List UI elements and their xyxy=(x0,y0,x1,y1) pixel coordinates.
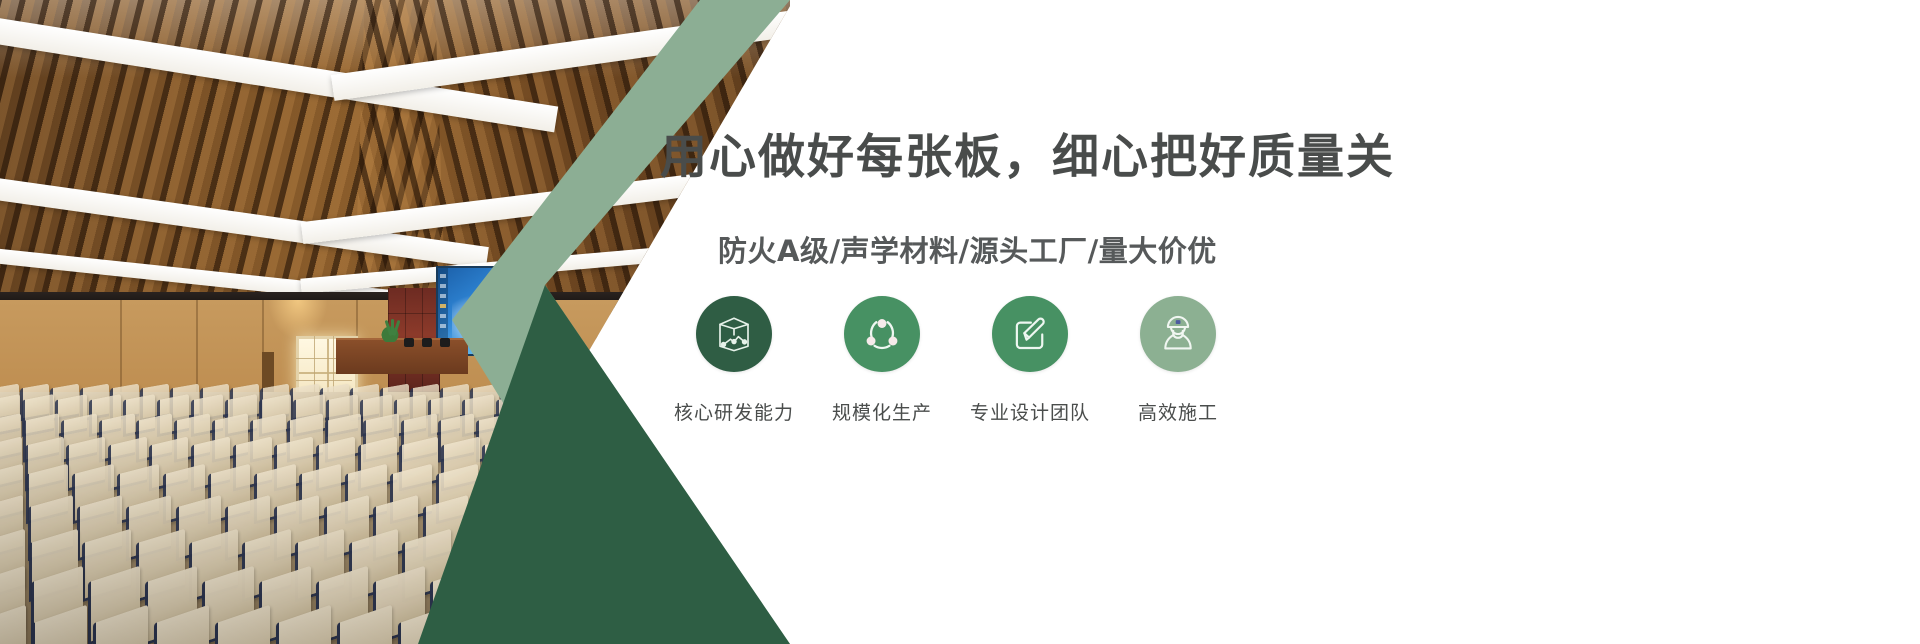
feature-item-design-team[interactable]: 专业设计团队 xyxy=(956,296,1104,425)
feature-label: 高效施工 xyxy=(1138,398,1218,425)
feature-item-scale-production[interactable]: 规模化生产 xyxy=(808,296,956,425)
feature-list: 核心研发能力 规模化生产 xyxy=(660,296,1252,425)
feature-icon-circle xyxy=(696,296,772,372)
feature-icon-circle xyxy=(992,296,1068,372)
network-share-icon xyxy=(861,313,903,355)
banner-content: 用心做好每张板，细心把好质量关 防火A级/声学材料/源头工厂/量大价优 xyxy=(660,0,1920,644)
box-chart-icon xyxy=(713,313,755,355)
hero-banner: 用心做好每张板，细心把好质量关 防火A级/声学材料/源头工厂/量大价优 xyxy=(0,0,1920,644)
feature-item-core-rd[interactable]: 核心研发能力 xyxy=(660,296,808,425)
pencil-edit-icon xyxy=(1009,313,1051,355)
feature-icon-circle xyxy=(844,296,920,372)
feature-label: 核心研发能力 xyxy=(674,398,794,425)
feature-label: 规模化生产 xyxy=(832,398,932,425)
feature-label: 专业设计团队 xyxy=(970,398,1090,425)
feature-item-efficient-construction[interactable]: 高效施工 xyxy=(1104,296,1252,425)
feature-icon-circle xyxy=(1140,296,1216,372)
hardhat-worker-icon xyxy=(1157,313,1199,355)
headline: 用心做好每张板，细心把好质量关 xyxy=(660,118,1520,187)
subheadline: 防火A级/声学材料/源头工厂/量大价优 xyxy=(718,228,1578,270)
